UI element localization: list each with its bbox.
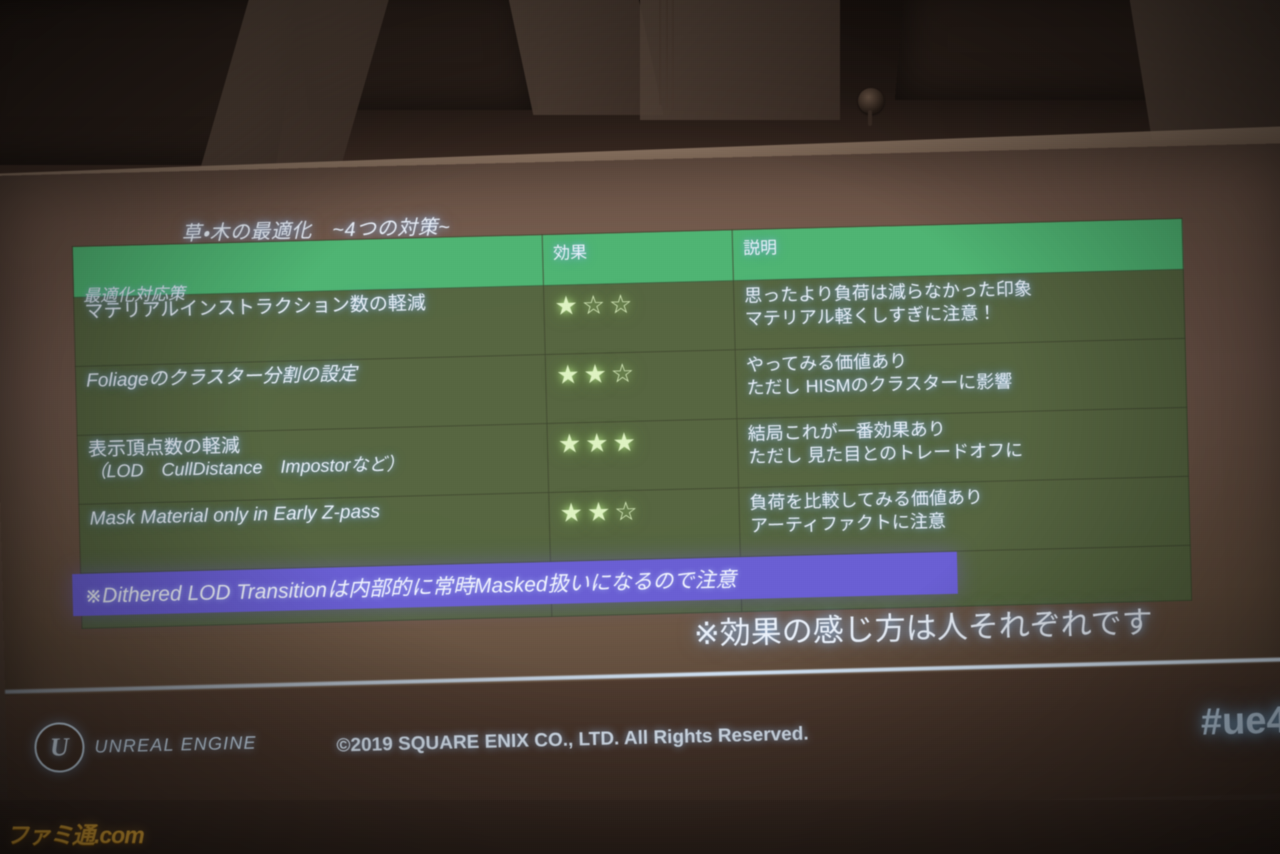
row-group-label: 最適化対応策: [83, 279, 186, 307]
measure-name-text: Foliageのクラスター分割の設定: [86, 359, 535, 392]
cell-description: 思ったより負荷は減らなかった印象 マテリアル軽くしすぎに注意！: [733, 269, 1185, 349]
description-line-2: マテリアル軽くしすぎに注意！: [745, 303, 997, 329]
cell-measure-name: Foliageのクラスター分割の設定: [75, 355, 547, 436]
cell-effect: ★★★: [547, 419, 739, 493]
description-line-1: 結局これが一番効果あり: [748, 419, 946, 444]
famitsu-watermark: ファミ通.com: [6, 816, 144, 850]
cell-description: やってみる価値あり ただし HISMのクラスターに影響: [735, 338, 1187, 418]
cell-effect: ★★☆: [549, 488, 741, 562]
description-line-2: アーティファクトに注意: [750, 511, 946, 536]
column-header-effect: 効果: [542, 230, 733, 286]
copyright-text: ©2019 SQUARE ENIX CO., LTD. All Rights R…: [336, 724, 809, 758]
ceiling-cable-2: [666, 0, 668, 108]
effect-stars: ★★★: [558, 427, 641, 459]
cell-description: 負荷を比較してみる価値あり アーティファクトに注意: [739, 476, 1191, 556]
slide-content: 草・木の最適化 ~4つの対策~ 効果 説明 マテリアルインストラクション数の: [0, 143, 1280, 806]
effect-stars: ★★☆: [559, 496, 642, 528]
cell-measure-name: 表示頂点数の軽減 （LOD CullDistance Impostorなど）: [77, 424, 549, 505]
photo-bottom-band: [0, 800, 1280, 854]
ceiling-panel-c: [640, 0, 840, 120]
ceiling-cable-1: [659, 0, 661, 105]
ceiling-panel-d: [1128, 0, 1280, 140]
projector-screen: 草・木の最適化 ~4つの対策~ 効果 説明 マテリアルインストラクション数の: [0, 143, 1280, 806]
cell-description: 結局これが一番効果あり ただし 見た目とのトレードオフに: [737, 407, 1189, 487]
description-line-2: ただし 見た目とのトレードオフに: [748, 440, 1023, 467]
effect-stars: ★☆☆: [554, 289, 637, 321]
measure-name-text: Mask Material only in Early Z-pass: [89, 497, 538, 530]
effect-stars: ★★☆: [556, 358, 639, 390]
unreal-engine-wordmark: UNREAL ENGINE: [94, 732, 257, 757]
description-line-2: ただし HISMのクラスターに影響: [746, 372, 1012, 399]
description-line-1: 負荷を比較してみる価値あり: [749, 487, 983, 513]
cell-effect: ★☆☆: [543, 281, 735, 355]
ceiling-cable-3: [672, 0, 674, 110]
unreal-u-icon: U: [34, 722, 85, 773]
description-line-1: やってみる価値あり: [746, 351, 908, 375]
ceiling-speaker: [858, 88, 884, 114]
cell-measure-name: Mask Material only in Early Z-pass: [79, 493, 551, 574]
cell-effect: ★★☆: [545, 350, 737, 424]
unreal-engine-logo: U UNREAL ENGINE: [34, 717, 258, 773]
event-hashtag: #ue4f: [1200, 699, 1280, 744]
screenshot-root: 草・木の最適化 ~4つの対策~ 効果 説明 マテリアルインストラクション数の: [0, 0, 1280, 854]
